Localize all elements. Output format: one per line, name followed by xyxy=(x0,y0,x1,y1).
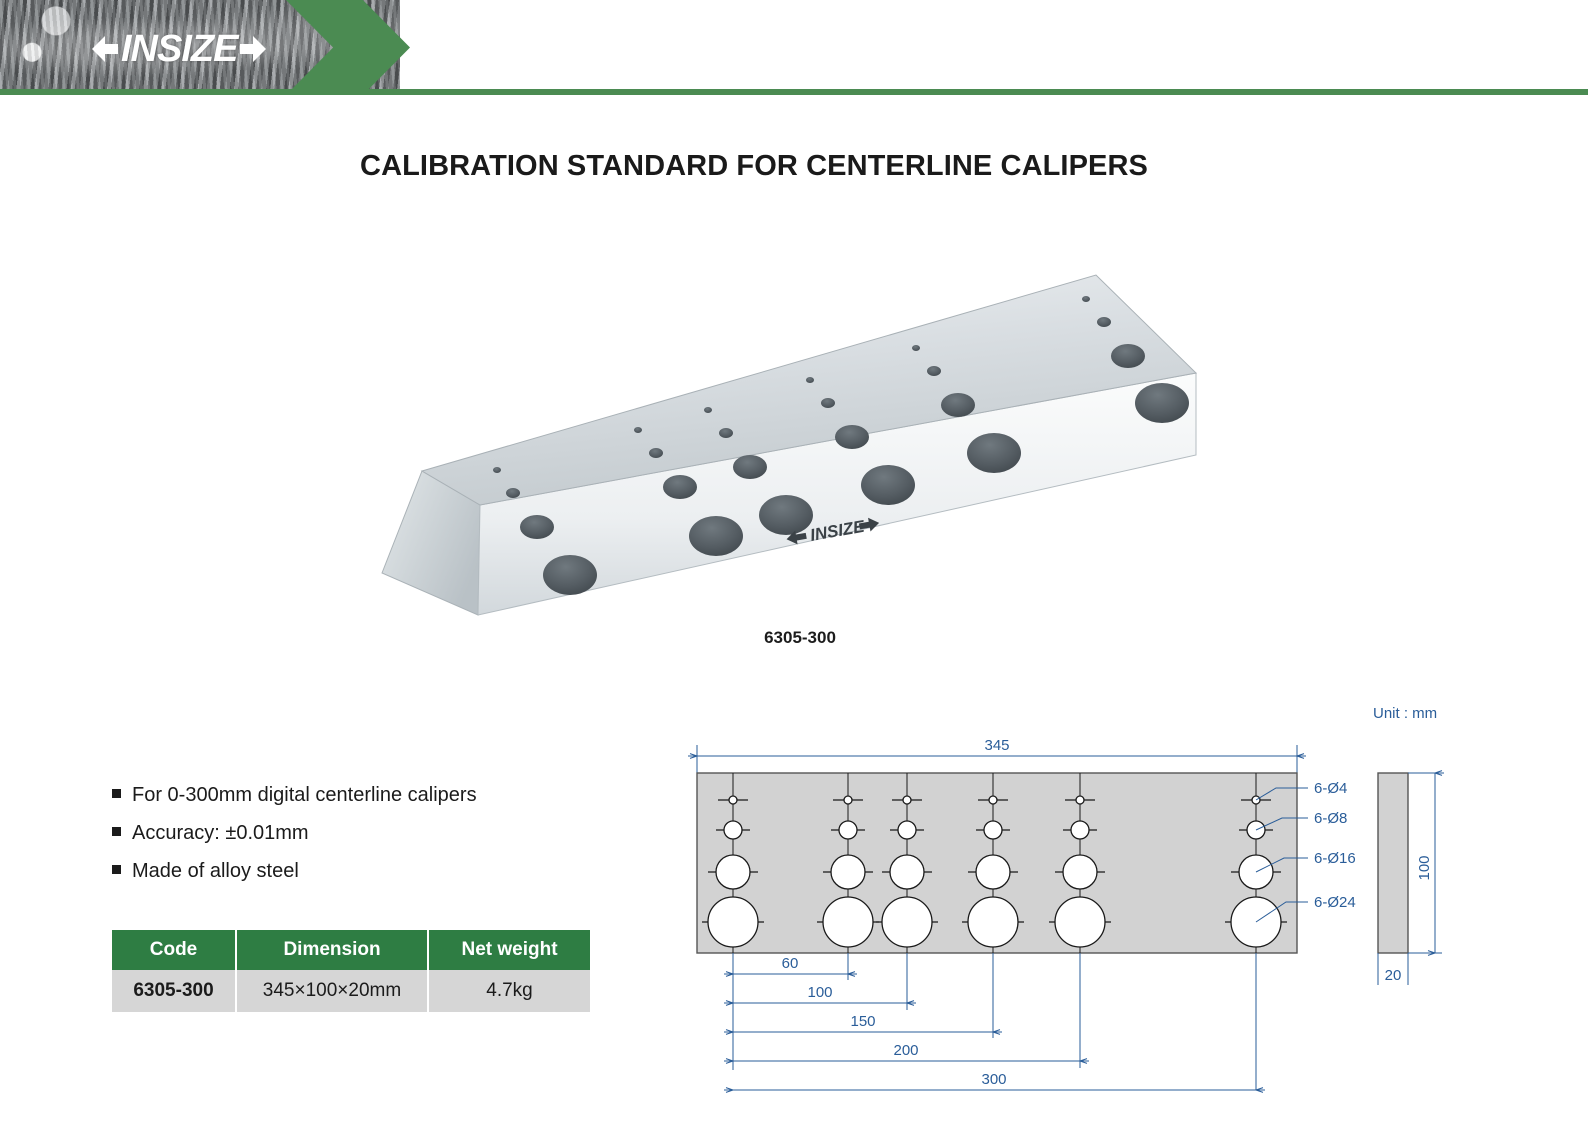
column-header-net-weight: Net weight xyxy=(428,930,590,970)
cell-dimension: 345×100×20mm xyxy=(236,970,428,1012)
dimension-200: 200 xyxy=(893,1042,918,1059)
callout-6-d4: 6-Ø4 xyxy=(1314,780,1347,797)
table-header-row: Code Dimension Net weight xyxy=(112,930,590,970)
dimension-150: 150 xyxy=(850,1013,875,1030)
arrow-right-icon xyxy=(240,34,266,64)
square-bullet-icon xyxy=(112,789,121,798)
list-item: For 0-300mm digital centerline calipers xyxy=(112,780,632,811)
datasheet-page: INSIZE CALIBRATION STANDARD FOR CENTERLI… xyxy=(0,0,1588,1132)
column-header-code: Code xyxy=(112,930,236,970)
dimension-side-100: 100 xyxy=(1416,855,1433,880)
feature-text: Accuracy: ±0.01mm xyxy=(132,818,309,849)
list-item: Made of alloy steel xyxy=(112,856,632,887)
header-green-rule xyxy=(0,89,1588,95)
feature-list: For 0-300mm digital centerline calipers … xyxy=(112,780,632,894)
product-photo: INSIZE xyxy=(360,255,1240,655)
insize-logo: INSIZE xyxy=(92,30,266,68)
square-bullet-icon xyxy=(112,865,121,874)
dimension-345: 345 xyxy=(984,737,1009,754)
feature-text: Made of alloy steel xyxy=(132,856,299,887)
technical-drawing: 345 xyxy=(660,690,1490,1110)
product-caption: 6305-300 xyxy=(360,628,1240,648)
page-title: CALIBRATION STANDARD FOR CENTERLINE CALI… xyxy=(0,150,1588,183)
product-illustration: INSIZE xyxy=(360,255,1240,655)
dimension-side-20: 20 xyxy=(1385,967,1402,984)
insize-logo-text: INSIZE xyxy=(121,30,237,68)
square-bullet-icon xyxy=(112,827,121,836)
dimension-100: 100 xyxy=(807,984,832,1001)
callout-6-d24: 6-Ø24 xyxy=(1314,894,1356,911)
dimension-60: 60 xyxy=(782,955,799,972)
column-header-dimension: Dimension xyxy=(236,930,428,970)
list-item: Accuracy: ±0.01mm xyxy=(112,818,632,849)
page-header: INSIZE xyxy=(0,0,1588,95)
dimension-300: 300 xyxy=(981,1071,1006,1088)
cell-net-weight: 4.7kg xyxy=(428,970,590,1012)
arrow-left-icon xyxy=(92,34,118,64)
specification-table: Code Dimension Net weight 6305-300 345×1… xyxy=(112,930,590,1012)
table-row: 6305-300 345×100×20mm 4.7kg xyxy=(112,970,590,1012)
callout-6-d16: 6-Ø16 xyxy=(1314,850,1356,867)
callout-6-d8: 6-Ø8 xyxy=(1314,810,1347,827)
side-view-plate xyxy=(1378,773,1408,953)
cell-code: 6305-300 xyxy=(112,970,236,1012)
feature-text: For 0-300mm digital centerline calipers xyxy=(132,780,477,811)
